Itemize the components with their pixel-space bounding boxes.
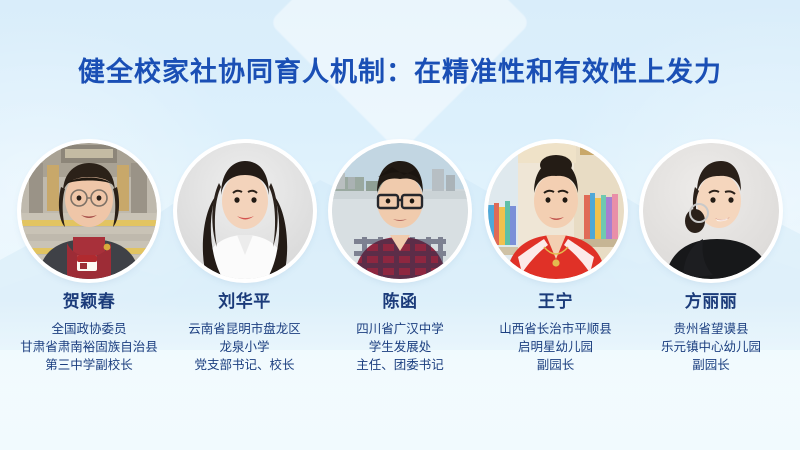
person-details: 贵州省望谟县 乐元镇中心幼儿园 副园长 <box>661 320 761 374</box>
person-detail-line: 山西省长治市平顺县 <box>499 320 612 338</box>
person-detail-line: 四川省广汉中学 <box>356 320 444 338</box>
avatar <box>488 143 624 279</box>
list-item: 贺颖春 全国政协委员 甘肃省肃南裕固族自治县 第三中学副校长 <box>14 143 164 374</box>
person-detail-line: 副园长 <box>499 356 612 374</box>
person-detail-line: 贵州省望谟县 <box>661 320 761 338</box>
poster-canvas: 健全校家社协同育人机制：在精准性和有效性上发力 <box>0 0 800 450</box>
portrait-chen-han-icon <box>332 143 468 279</box>
person-detail-line: 主任、团委书记 <box>356 356 444 374</box>
person-detail-line: 龙泉小学 <box>188 338 301 356</box>
person-name: 陈函 <box>383 293 418 312</box>
person-details: 四川省广汉中学 学生发展处 主任、团委书记 <box>356 320 444 374</box>
portrait-liu-huaping-icon <box>177 143 313 279</box>
person-name: 方丽丽 <box>685 293 738 312</box>
portrait-wang-ning-icon <box>488 143 624 279</box>
person-detail-line: 甘肃省肃南裕固族自治县 <box>20 338 158 356</box>
person-detail-line: 启明星幼儿园 <box>499 338 612 356</box>
person-details: 全国政协委员 甘肃省肃南裕固族自治县 第三中学副校长 <box>20 320 158 374</box>
list-item: 方丽丽 贵州省望谟县 乐元镇中心幼儿园 副园长 <box>636 143 786 374</box>
person-detail-line: 第三中学副校长 <box>20 356 158 374</box>
person-detail-line: 乐元镇中心幼儿园 <box>661 338 761 356</box>
person-name: 贺颖春 <box>63 293 116 312</box>
list-item: 陈函 四川省广汉中学 学生发展处 主任、团委书记 <box>325 143 475 374</box>
person-detail-line: 云南省昆明市盘龙区 <box>188 320 301 338</box>
portrait-fang-lili-icon <box>643 143 779 279</box>
avatar <box>177 143 313 279</box>
person-detail-line: 党支部书记、校长 <box>188 356 301 374</box>
person-details: 云南省昆明市盘龙区 龙泉小学 党支部书记、校长 <box>188 320 301 374</box>
page-title: 健全校家社协同育人机制：在精准性和有效性上发力 <box>0 50 800 89</box>
avatar <box>643 143 779 279</box>
person-name: 王宁 <box>538 293 573 312</box>
person-details: 山西省长治市平顺县 启明星幼儿园 副园长 <box>499 320 612 374</box>
person-name: 刘华平 <box>218 293 271 312</box>
person-list: 贺颖春 全国政协委员 甘肃省肃南裕固族自治县 第三中学副校长 <box>0 143 800 374</box>
avatar <box>332 143 468 279</box>
person-detail-line: 副园长 <box>661 356 761 374</box>
list-item: 王宁 山西省长治市平顺县 启明星幼儿园 副园长 <box>481 143 631 374</box>
person-detail-line: 学生发展处 <box>356 338 444 356</box>
avatar <box>21 143 157 279</box>
person-detail-line: 全国政协委员 <box>20 320 158 338</box>
list-item: 刘华平 云南省昆明市盘龙区 龙泉小学 党支部书记、校长 <box>170 143 320 374</box>
portrait-he-yingchun-icon <box>21 143 157 279</box>
